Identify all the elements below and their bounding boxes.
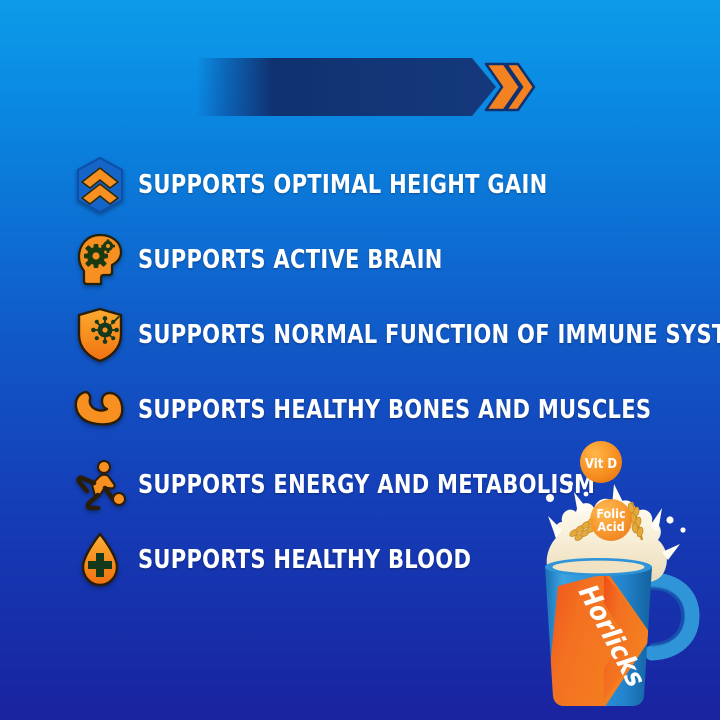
benefit-label: SUPPORTS ACTIVE BRAIN [138,245,476,275]
vit-d-badge-label: Vit D [585,457,617,472]
running-figure-ball-icon [62,454,138,516]
folic-acid-badge-line2: Acid [597,519,624,534]
benefit-row: SUPPORTS NORMAL FUNCTION OF IMMUNE SYSTE… [62,304,682,366]
header-banner: KEY BENEFITS [196,58,496,116]
product-image-horlicks-mug: Horlicks Vit D Folic Acid [500,440,720,720]
benefit-row: SUPPORTS HEALTHY BONES AND MUSCLES [62,379,682,441]
flexed-bicep-icon [62,379,138,441]
page-title: KEY BENEFITS [196,64,472,110]
key-benefits-poster: KEY BENEFITS SUPPORTS OPTIMAL HEIGHT GAI… [0,0,720,720]
benefit-label: SUPPORTS OPTIMAL HEIGHT GAIN [138,170,593,200]
benefit-label: SUPPORTS HEALTHY BONES AND MUSCLES [138,395,708,425]
page-title-text: KEY BENEFITS [214,64,476,110]
hexagon-double-chevron-up-icon [62,154,138,216]
benefit-label: SUPPORTS NORMAL FUNCTION OF IMMUNE SYSTE… [138,320,720,350]
double-chevron-right-icon [484,58,536,116]
benefit-row: SUPPORTS OPTIMAL HEIGHT GAIN [62,154,682,216]
head-gears-brain-icon [62,229,138,291]
shield-germ-icon [62,304,138,366]
benefit-row: SUPPORTS ACTIVE BRAIN [62,229,682,291]
vit-d-badge: Vit D [580,441,622,483]
blood-drop-cross-icon [62,529,138,591]
folic-acid-badge: Folic Acid [590,499,632,541]
benefit-label: SUPPORTS HEALTHY BLOOD [138,545,508,575]
